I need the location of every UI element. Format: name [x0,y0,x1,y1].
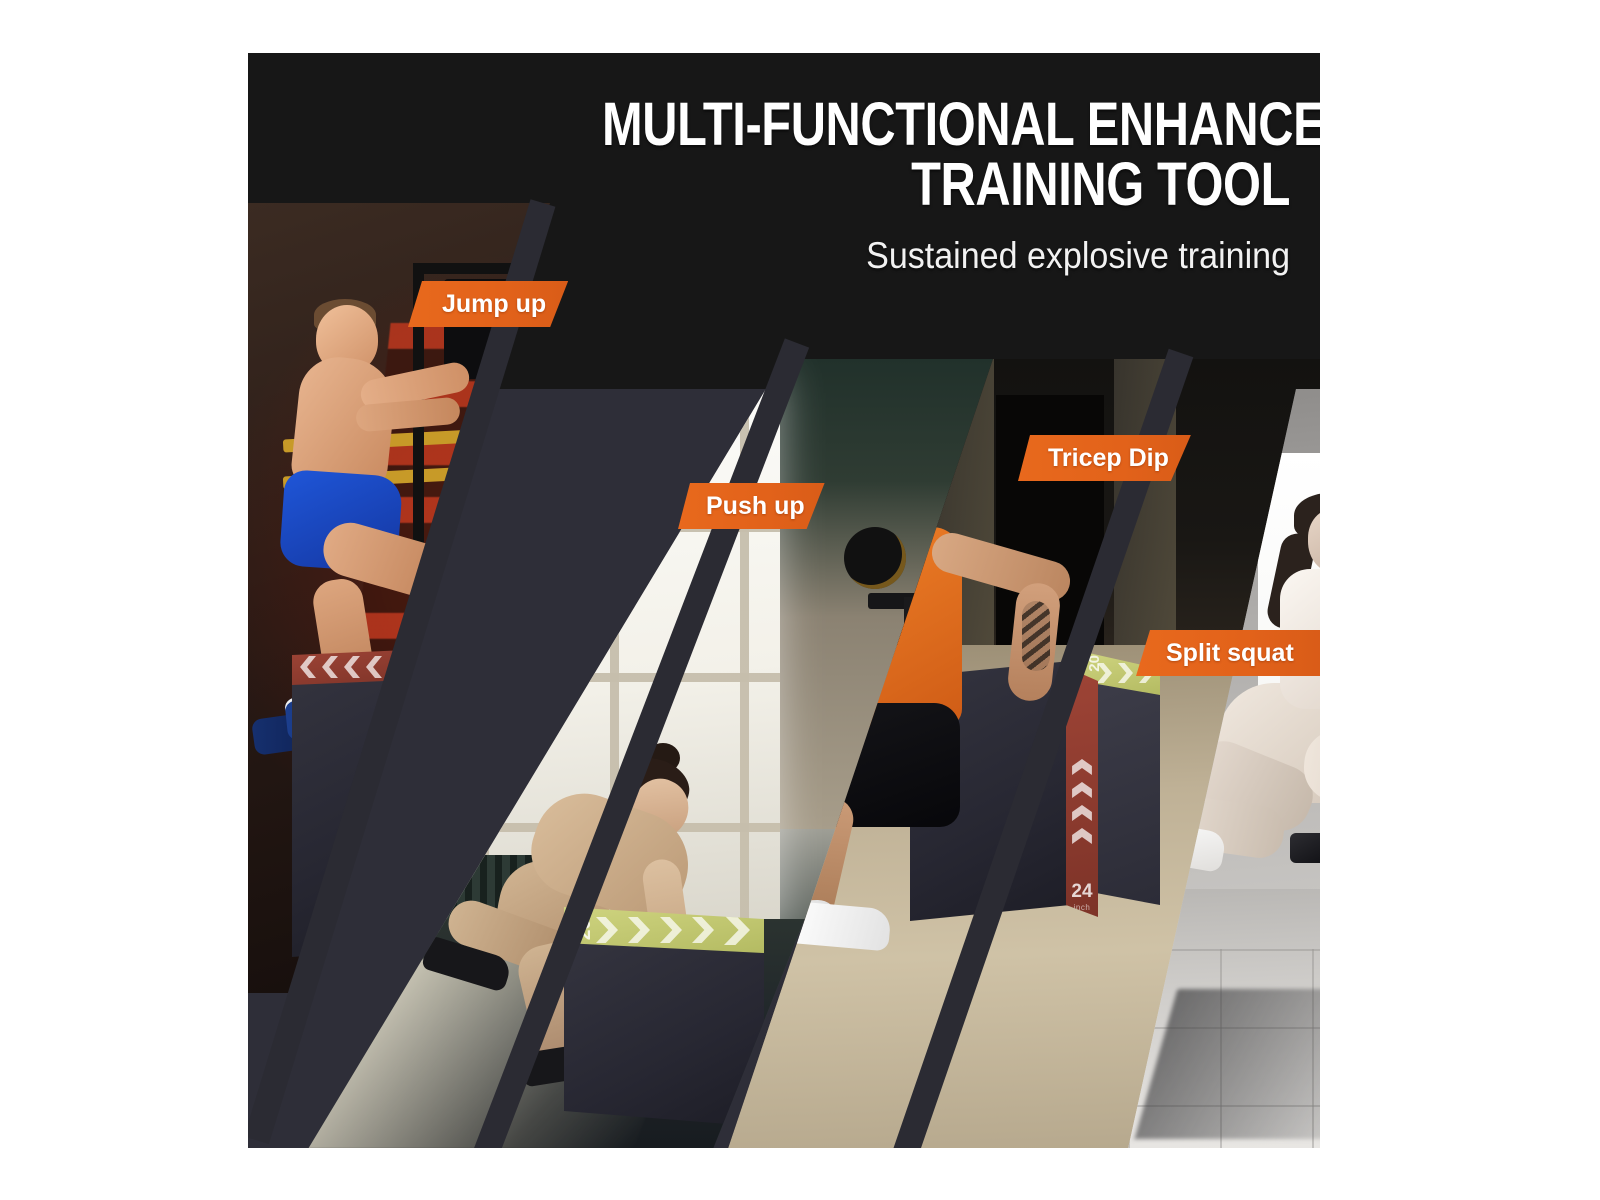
athlete-tattoo [1022,601,1050,671]
badge-tricep-dip: Tricep Dip [1018,435,1191,481]
box-side-face [1096,667,1160,905]
badge-split-squat-label: Split squat [1166,639,1294,668]
plyo-box-push: 20 inch [564,897,764,1127]
dumbbell-weight-left [1290,833,1320,863]
badge-tricep-dip-label: Tricep Dip [1048,444,1169,473]
product-infographic: 24 30 inch [248,53,1320,1148]
page-subtitle: Sustained explosive training [499,235,1290,277]
dumbbell [1292,833,1320,863]
page-title-line-2: TRAINING TOOL [602,155,1290,215]
badge-jump-up: Jump up [408,281,568,327]
page-title-line-1: MULTI-FUNCTIONAL ENHANCED [602,95,1290,155]
box-stripe-blue: 30 inch [430,641,456,947]
title-block: MULTI-FUNCTIONAL ENHANCED TRAINING TOOL … [430,95,1290,277]
badge-push-up-label: Push up [706,492,805,521]
badge-split-squat: Split squat [1136,630,1320,676]
box-front-face [564,941,764,1127]
badge-jump-up-label: Jump up [442,290,546,319]
wall-clock [844,527,906,589]
badge-push-up: Push up [678,483,825,529]
